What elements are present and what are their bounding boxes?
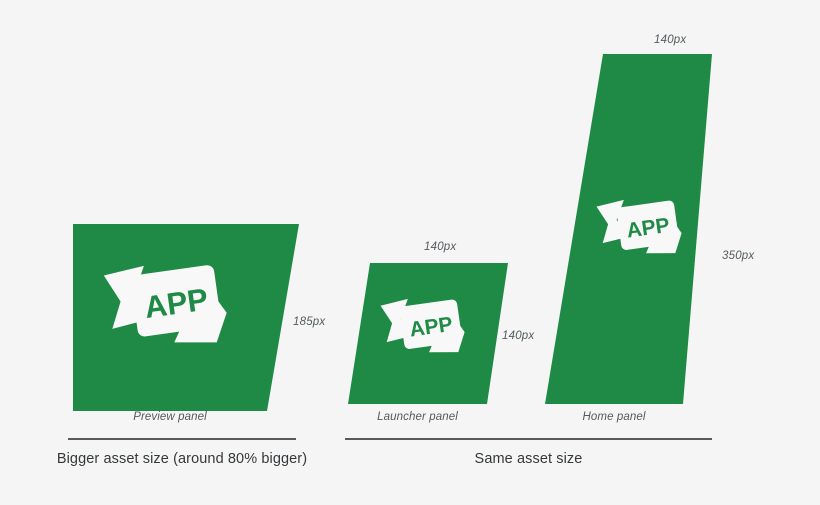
diagram-stage: APP 185px Preview panel Bigger asset siz… [0, 0, 820, 505]
home-panel-height-label: 350px [722, 250, 754, 262]
home-panel-width-label: 140px [654, 34, 686, 46]
home-panel-logo: APP [0, 0, 820, 505]
right-group-rule [345, 438, 712, 440]
right-group-caption: Same asset size [345, 451, 712, 467]
home-panel-caption: Home panel [545, 411, 683, 423]
